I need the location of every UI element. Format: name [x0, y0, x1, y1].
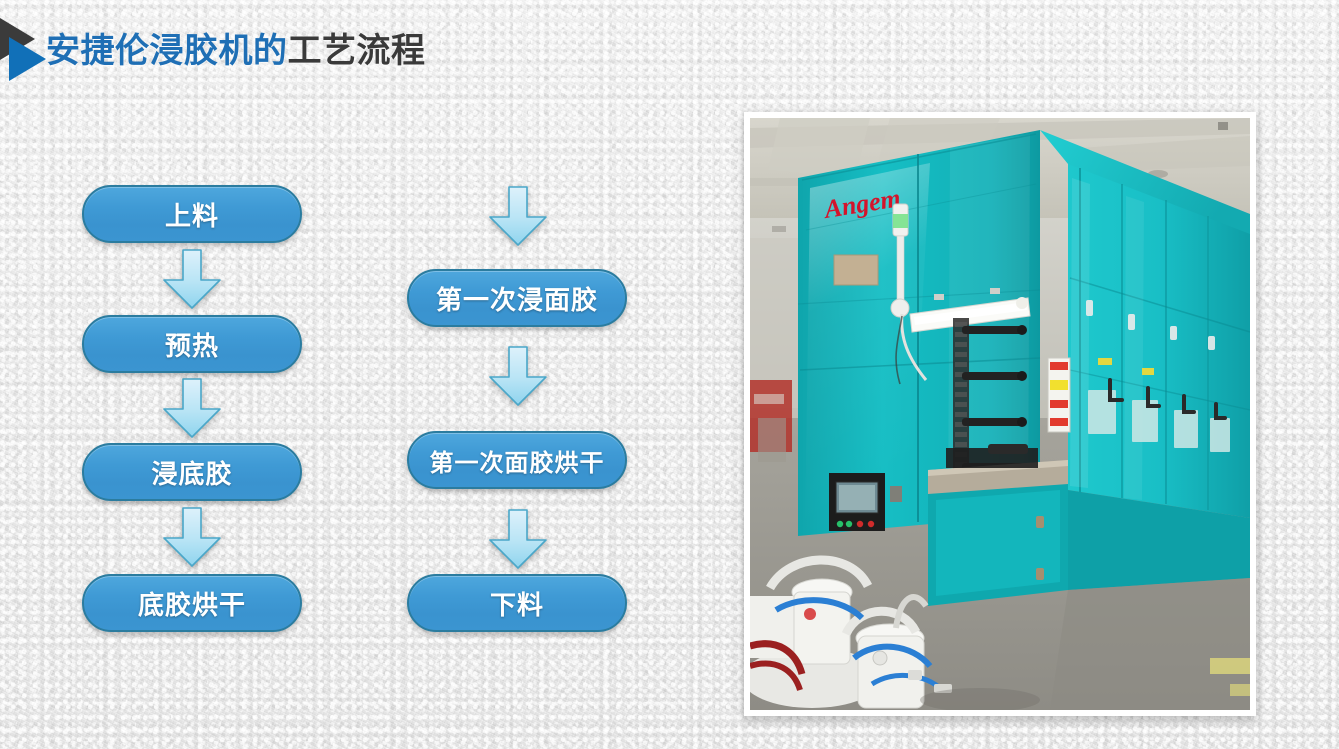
triangle-blue-icon — [9, 37, 46, 81]
arrow-6-icon — [486, 508, 550, 570]
node-first-dip[interactable]: 第一次浸面胶 — [407, 269, 627, 327]
title-marker — [0, 18, 48, 88]
node-first-dry-label: 第一次面胶烘干 — [430, 443, 605, 478]
machine-photo-frame: Angem — [744, 112, 1256, 716]
page-title: 安捷伦浸胶机的工艺流程 — [0, 18, 700, 88]
node-xialiao[interactable]: 下料 — [407, 574, 627, 632]
page-title-blue-part: 安捷伦浸胶机的 — [46, 32, 288, 70]
page-title-text: 安捷伦浸胶机的工艺流程 — [46, 26, 426, 76]
arrow-5-icon — [486, 345, 550, 407]
arrow-4-icon — [486, 185, 550, 247]
page-title-gray-part: 工艺流程 — [288, 32, 426, 70]
node-first-dip-label: 第一次浸面胶 — [436, 280, 598, 317]
machine-photo-image: Angem — [750, 118, 1250, 710]
slide-canvas: 安捷伦浸胶机的工艺流程 上料预热浸底胶底胶烘干第一次浸面胶第一次面胶烘干下料 — [0, 0, 1339, 749]
node-first-dry[interactable]: 第一次面胶烘干 — [407, 431, 627, 489]
machine-photo: Angem — [750, 118, 1250, 710]
node-xialiao-label: 下料 — [490, 585, 544, 622]
